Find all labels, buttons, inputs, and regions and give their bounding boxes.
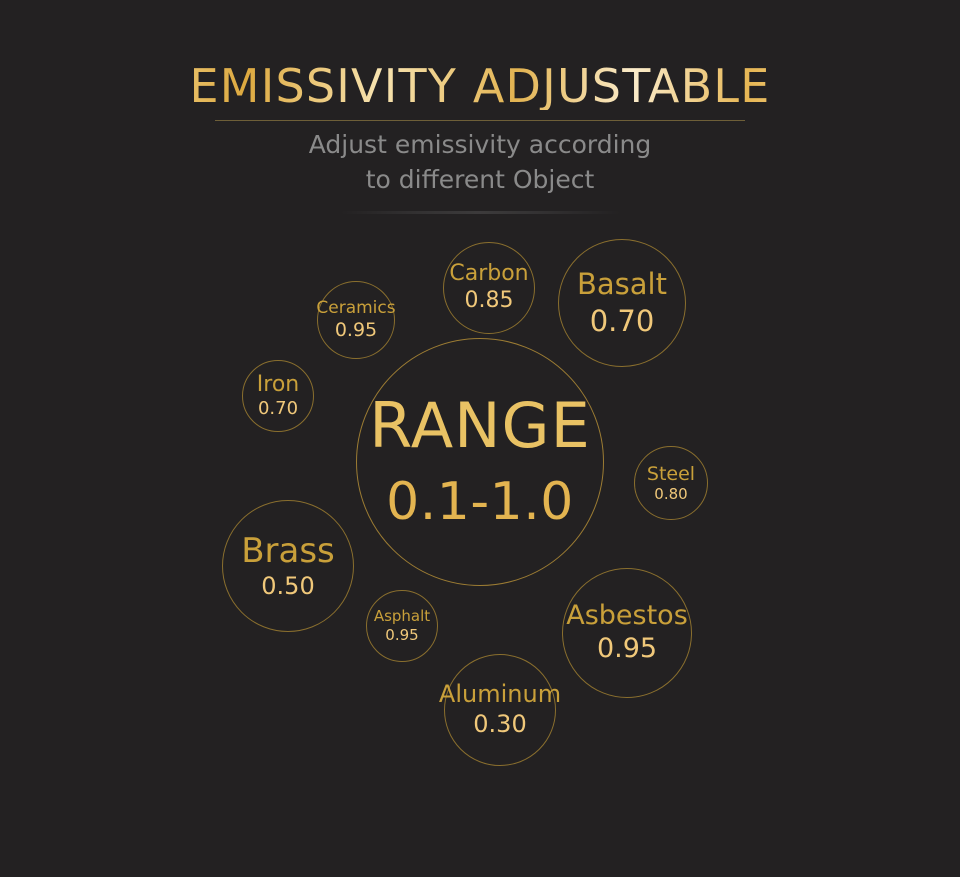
bubble-iron: Iron0.70 xyxy=(242,360,314,432)
bubble-carbon-label: Carbon xyxy=(449,262,528,285)
bubble-ceramics-value: 0.95 xyxy=(335,320,377,341)
bubble-steel: Steel0.80 xyxy=(634,446,708,520)
bubble-asphalt-label: Asphalt xyxy=(374,609,430,625)
bubble-asphalt-value: 0.95 xyxy=(385,627,418,644)
bubble-carbon-value: 0.85 xyxy=(465,289,514,314)
bubble-range: RANGE 0.1-1.0 xyxy=(356,338,604,586)
bubble-brass-label: Brass xyxy=(241,533,335,569)
bubble-aluminum-value: 0.30 xyxy=(473,711,526,738)
bubble-basalt-label: Basalt xyxy=(577,269,667,300)
bubble-ceramics: Ceramics0.95 xyxy=(317,281,395,359)
bubble-steel-value: 0.80 xyxy=(654,486,687,503)
emissivity-bubble-cluster: RANGE 0.1-1.0 Ceramics0.95Carbon0.85Basa… xyxy=(0,0,960,877)
bubble-range-label: RANGE xyxy=(369,393,591,459)
bubble-aluminum-label: Aluminum xyxy=(439,682,561,707)
bubble-basalt: Basalt0.70 xyxy=(558,239,686,367)
bubble-brass-value: 0.50 xyxy=(261,573,314,600)
bubble-brass: Brass0.50 xyxy=(222,500,354,632)
bubble-asbestos-label: Asbestos xyxy=(566,602,688,631)
bubble-range-value: 0.1-1.0 xyxy=(386,473,574,531)
bubble-aluminum: Aluminum0.30 xyxy=(444,654,556,766)
bubble-basalt-value: 0.70 xyxy=(590,305,655,337)
bubble-asphalt: Asphalt0.95 xyxy=(366,590,438,662)
bubble-iron-label: Iron xyxy=(257,373,299,396)
bubble-asbestos-value: 0.95 xyxy=(597,634,657,664)
bubble-carbon: Carbon0.85 xyxy=(443,242,535,334)
bubble-ceramics-label: Ceramics xyxy=(316,299,395,317)
bubble-iron-value: 0.70 xyxy=(258,399,298,419)
bubble-steel-label: Steel xyxy=(647,464,695,484)
bubble-asbestos: Asbestos0.95 xyxy=(562,568,692,698)
